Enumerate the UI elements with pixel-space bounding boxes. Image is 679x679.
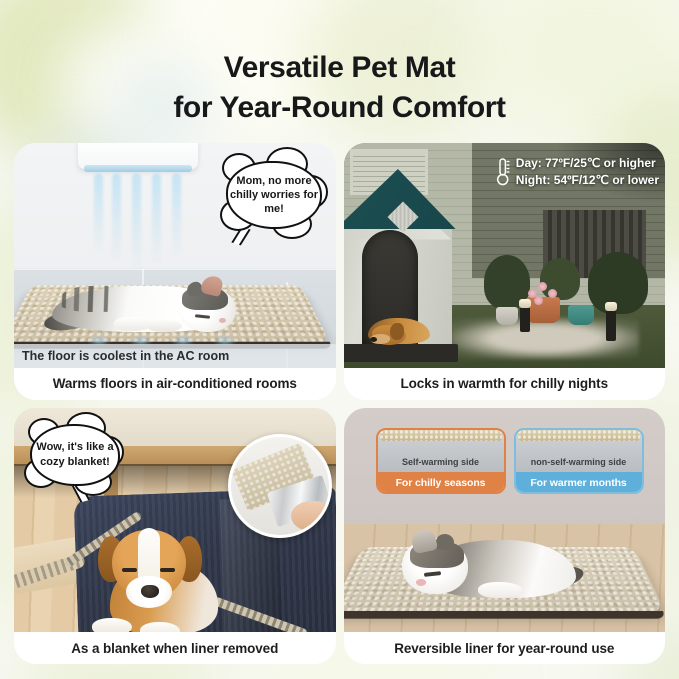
dog-house-base (344, 344, 458, 362)
chip-non-self-warming-side: non-self-warming side For warmer months (514, 428, 644, 494)
flower-icon (534, 296, 543, 305)
cold-airflow-icon (88, 334, 110, 344)
shrub-icon (588, 252, 648, 314)
temperature-badge: Day: 77ºF/25℃ or higher Night: 54ºF/12℃ … (496, 155, 659, 188)
dog-eye (160, 568, 175, 572)
dog-ear (390, 323, 404, 340)
product-infographic: Versatile Pet Mat for Year-Round Comfort (0, 0, 679, 679)
page-title-line-2: for Year-Round Comfort (0, 88, 679, 128)
cat-paw (114, 317, 152, 331)
chip-side-label: Self-warming side (402, 457, 479, 468)
panel-caption: Reversible liner for year-round use (344, 632, 666, 664)
dog-nose (370, 337, 377, 342)
cat-icon (52, 274, 232, 332)
panel-reversible-liner: Self-warming side For chilly seasons non… (344, 408, 666, 665)
chip-season-label: For warmer months (516, 472, 642, 494)
garden-lamp-icon (606, 309, 616, 341)
cat-paw (478, 582, 522, 598)
cold-airflow-icon (214, 334, 236, 344)
cold-airflow-icon (130, 334, 152, 344)
panel-caption: Locks in warmth for chilly nights (344, 368, 666, 400)
panel-reversible-liner-scene: Self-warming side For chilly seasons non… (344, 408, 666, 633)
garden-lamp-icon (520, 306, 530, 332)
speech-bubble-text: Wow, it's like a cozy blanket! (32, 440, 118, 468)
cold-airflow-icon (172, 173, 181, 257)
chip-image: Self-warming side (378, 430, 504, 472)
chip-season-label: For chilly seasons (378, 472, 504, 494)
panel-caption: Warms floors in air-conditioned rooms (14, 368, 336, 400)
dog-paw (92, 618, 132, 632)
overlay-caption-text: The floor is coolest in the AC room (22, 349, 229, 363)
page-title: Versatile Pet Mat for Year-Round Comfort (0, 48, 679, 128)
cat-ear (200, 273, 224, 296)
cold-airflow-icon (94, 173, 103, 253)
cat-icon (402, 520, 580, 598)
speech-bubble-ac-room: Mom, no more chilly worries for me! (226, 161, 322, 229)
chip-image: non-self-warming side (516, 430, 642, 472)
chip-self-warming-side: Self-warming side For chilly seasons (376, 428, 506, 494)
cat-stripes (58, 286, 132, 312)
shrub-icon (540, 258, 580, 300)
feature-panel-grid: Mom, no more chilly worries for me! The … (14, 143, 665, 664)
tile-line (14, 269, 336, 271)
thermometer-icon (496, 157, 511, 187)
flower-pot-icon (526, 297, 560, 323)
dog-eye (122, 568, 137, 572)
panel-ac-room-scene: Mom, no more chilly worries for me! The … (14, 143, 336, 368)
temperature-badge-lines: Day: 77ºF/25℃ or higher Night: 54ºF/12℃ … (516, 155, 659, 188)
panel-caption: As a blanket when liner removed (14, 632, 336, 664)
speech-bubble-blanket-mode: Wow, it's like a cozy blanket! (30, 424, 120, 486)
cold-airflow-icon (152, 173, 161, 265)
overlay-caption-bar: The floor is coolest in the AC room (14, 344, 336, 368)
cold-airflow-icon (132, 173, 141, 269)
cold-airflow-icon (112, 173, 121, 263)
cat-ear (434, 533, 454, 551)
flower-icon (548, 289, 557, 298)
temperature-day-text: Day: 77ºF/25℃ or higher (516, 155, 659, 172)
page-title-line-1: Versatile Pet Mat (0, 48, 679, 88)
hand-icon (291, 501, 331, 531)
panel-dog-house-scene: Day: 77ºF/25℃ or higher Night: 54ºF/12℃ … (344, 143, 666, 368)
cat-nose (416, 579, 426, 586)
air-conditioner-vent-icon (84, 165, 192, 172)
speech-bubble-text: Mom, no more chilly worries for me! (228, 174, 320, 216)
golden-retriever-icon (368, 310, 430, 344)
beagle-icon (92, 508, 222, 632)
liner-detail-inset-icon (228, 434, 332, 538)
panel-ac-room: Mom, no more chilly worries for me! The … (14, 143, 336, 400)
panel-blanket-mode-scene: Wow, it's like a cozy blanket! (14, 408, 336, 633)
cat-ear (409, 528, 437, 555)
flower-pot-icon (496, 307, 518, 325)
flower-icon (538, 282, 547, 291)
dog-nose (141, 585, 159, 598)
panel-dog-house: Day: 77ºF/25℃ or higher Night: 54ºF/12℃ … (344, 143, 666, 400)
temperature-night-text: Night: 54ºF/12℃ or lower (516, 172, 659, 189)
flower-pot-icon (568, 305, 594, 325)
cat-nose (219, 318, 226, 323)
cold-airflow-icon (172, 334, 194, 344)
cat-paw (148, 320, 182, 332)
panel-blanket-mode: Wow, it's like a cozy blanket! As a blan… (14, 408, 336, 665)
chip-side-label: non-self-warming side (531, 457, 627, 468)
